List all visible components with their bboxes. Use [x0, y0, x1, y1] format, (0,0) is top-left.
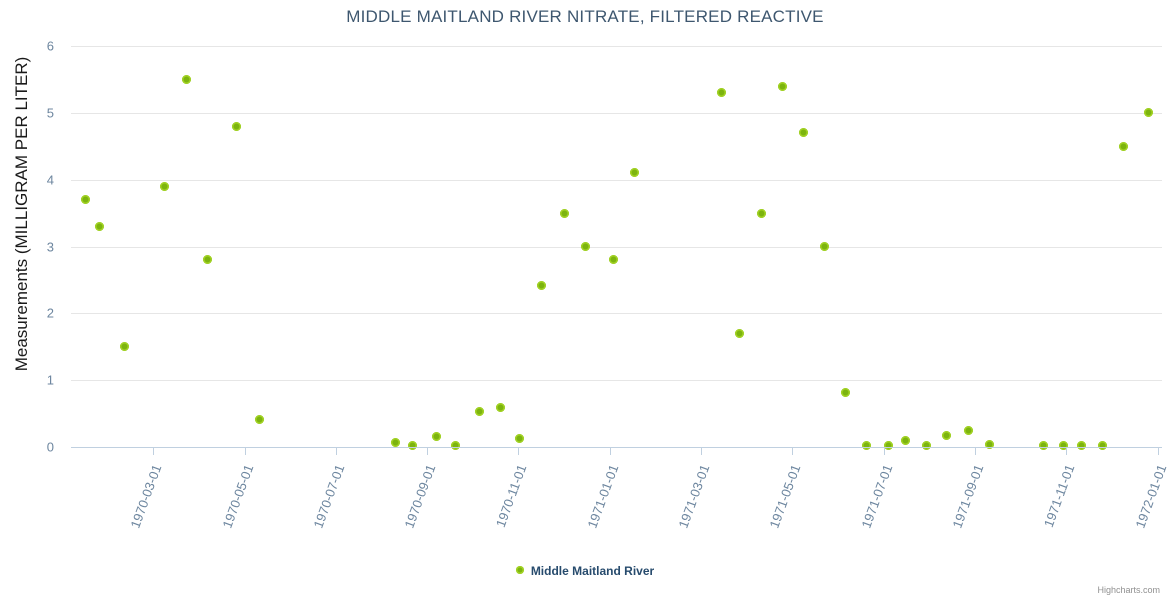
x-tick-label-text: 1970-05-01 [220, 463, 257, 531]
x-axis-tick [518, 447, 519, 455]
legend-item-label: Middle Maitland River [531, 564, 654, 578]
x-tick-label: 1971-07-01 [854, 463, 895, 543]
x-axis-tick [1158, 447, 1159, 455]
y-tick-label: 6 [47, 39, 54, 54]
y-gridline [71, 113, 1162, 114]
data-point-marker[interactable] [735, 329, 744, 338]
chart-legend: Middle Maitland River [0, 563, 1170, 578]
chart-title: MIDDLE MAITLAND RIVER NITRATE, FILTERED … [0, 7, 1170, 27]
y-tick-label: 0 [47, 440, 54, 455]
x-axis-tick [1066, 447, 1067, 455]
x-axis-tick [701, 447, 702, 455]
data-point-marker[interactable] [95, 222, 104, 231]
x-tick-label: 1970-05-01 [215, 463, 256, 543]
y-tick-label: 3 [47, 239, 54, 254]
data-point-marker[interactable] [81, 195, 90, 204]
x-axis-line [71, 447, 1162, 448]
x-tick-label: 1971-11-01 [1036, 463, 1077, 543]
x-tick-label: 1970-11-01 [488, 463, 529, 543]
data-point-marker[interactable] [182, 75, 191, 84]
x-tick-label: 1971-09-01 [945, 463, 986, 543]
data-point-marker[interactable] [964, 426, 973, 435]
y-tick-label: 4 [47, 172, 54, 187]
data-point-marker[interactable] [560, 209, 569, 218]
data-point-marker[interactable] [1077, 441, 1086, 450]
legend-item-middle-maitland-river[interactable]: Middle Maitland River [516, 563, 654, 578]
x-tick-label-text: 1971-03-01 [676, 463, 713, 531]
data-point-marker[interactable] [862, 441, 871, 450]
x-axis-tick-labels: 1970-03-011970-05-011970-07-011970-09-01… [71, 455, 1170, 555]
x-tick-label-text: 1970-07-01 [311, 463, 348, 531]
x-tick-label-text: 1972-01-01 [1133, 463, 1170, 531]
data-point-marker[interactable] [1144, 108, 1153, 117]
x-tick-label-text: 1971-11-01 [1041, 463, 1078, 530]
x-tick-label-text: 1970-11-01 [493, 463, 530, 530]
data-point-marker[interactable] [1039, 441, 1048, 450]
y-tick-label: 5 [47, 105, 54, 120]
data-point-marker[interactable] [922, 441, 931, 450]
y-tick-label: 2 [47, 306, 54, 321]
data-point-marker[interactable] [203, 255, 212, 264]
data-point-marker[interactable] [901, 436, 910, 445]
x-tick-label: 1971-01-01 [580, 463, 621, 543]
data-point-marker[interactable] [232, 122, 241, 131]
data-point-marker[interactable] [630, 168, 639, 177]
x-tick-label-text: 1971-01-01 [585, 463, 622, 531]
data-point-marker[interactable] [515, 434, 524, 443]
x-axis-tick [427, 447, 428, 455]
highcharts-scatter-chart: MIDDLE MAITLAND RIVER NITRATE, FILTERED … [0, 0, 1170, 600]
data-point-marker[interactable] [799, 128, 808, 137]
data-point-marker[interactable] [717, 88, 726, 97]
data-point-marker[interactable] [537, 281, 546, 290]
data-point-marker[interactable] [160, 182, 169, 191]
y-gridline [71, 313, 1162, 314]
data-point-marker[interactable] [581, 242, 590, 251]
data-point-marker[interactable] [496, 403, 505, 412]
data-point-marker[interactable] [820, 242, 829, 251]
data-point-marker[interactable] [757, 209, 766, 218]
x-tick-label: 1971-03-01 [671, 463, 712, 543]
data-point-marker[interactable] [408, 441, 417, 450]
data-point-marker[interactable] [475, 407, 484, 416]
x-tick-label-text: 1971-07-01 [859, 463, 896, 531]
x-tick-label: 1972-01-01 [1128, 463, 1169, 543]
x-tick-label: 1971-05-01 [762, 463, 803, 543]
x-tick-label: 1970-09-01 [397, 463, 438, 543]
y-gridline [71, 247, 1162, 248]
y-gridline [71, 46, 1162, 47]
x-axis-tick [336, 447, 337, 455]
x-axis-tick [792, 447, 793, 455]
y-gridline [71, 180, 1162, 181]
x-tick-label-text: 1971-09-01 [950, 463, 987, 531]
data-point-marker[interactable] [120, 342, 129, 351]
x-axis-tick [975, 447, 976, 455]
credits-link[interactable]: Highcharts.com [1097, 585, 1160, 595]
x-axis-tick [245, 447, 246, 455]
x-axis-tick [884, 447, 885, 455]
x-tick-label-text: 1970-09-01 [402, 463, 439, 531]
data-point-marker[interactable] [778, 82, 787, 91]
x-axis-tick [153, 447, 154, 455]
plot-area[interactable] [71, 46, 1162, 447]
data-point-marker[interactable] [841, 388, 850, 397]
x-tick-label-text: 1970-03-01 [128, 463, 165, 531]
data-point-marker[interactable] [942, 431, 951, 440]
x-axis-tick [610, 447, 611, 455]
data-point-marker[interactable] [255, 415, 264, 424]
data-point-marker[interactable] [985, 440, 994, 449]
data-point-marker[interactable] [432, 432, 441, 441]
y-axis-tick-labels: 0123456 [0, 46, 62, 447]
x-tick-label-text: 1971-05-01 [767, 463, 804, 531]
y-tick-label: 1 [47, 373, 54, 388]
data-point-marker[interactable] [1119, 142, 1128, 151]
data-point-marker[interactable] [609, 255, 618, 264]
data-point-marker[interactable] [451, 441, 460, 450]
legend-marker-icon [516, 566, 524, 574]
x-tick-label: 1970-07-01 [306, 463, 347, 543]
x-tick-label: 1970-03-01 [123, 463, 164, 543]
data-point-marker[interactable] [1098, 441, 1107, 450]
y-gridline [71, 380, 1162, 381]
